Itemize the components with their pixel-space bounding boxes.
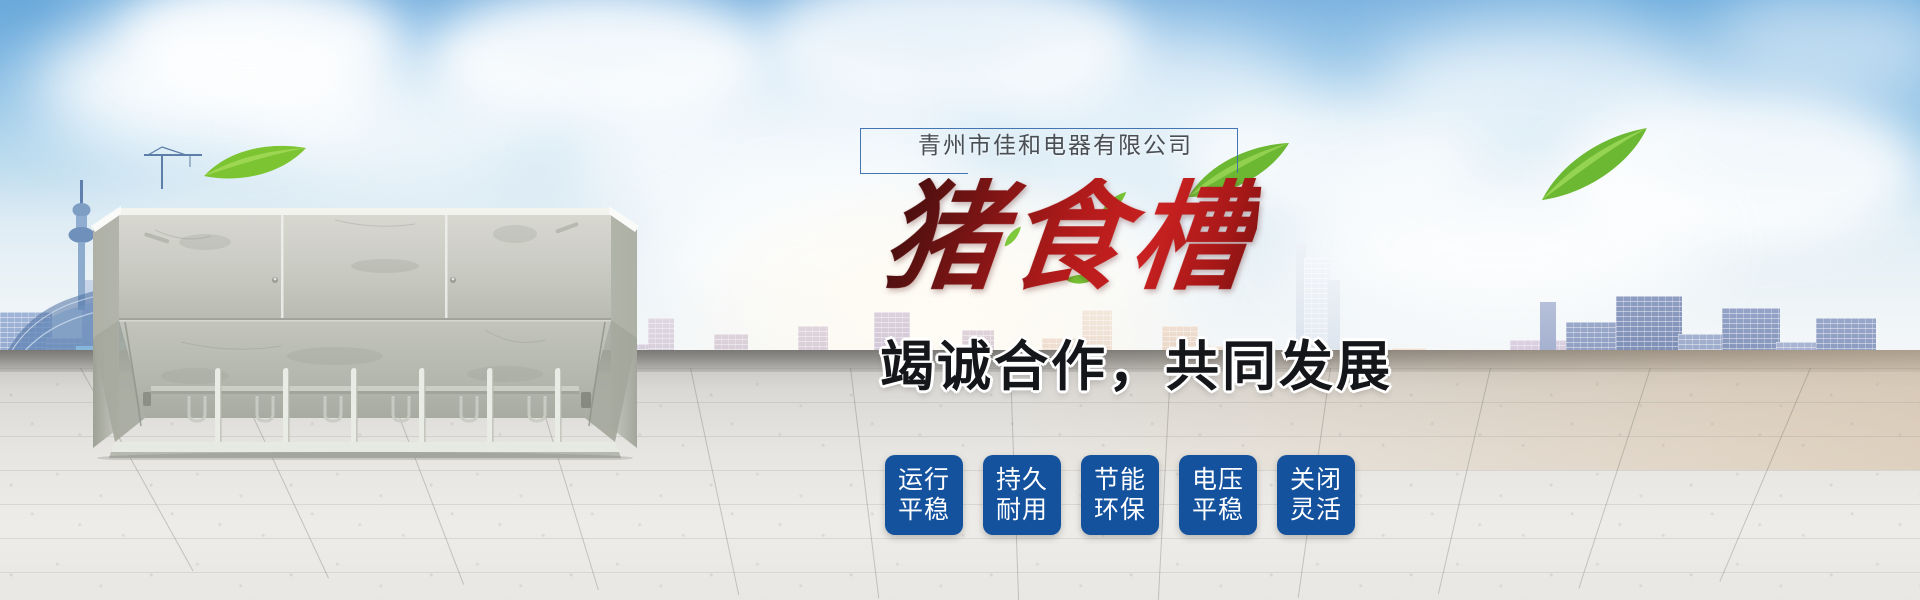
slogan-subtitle: 竭诚合作，共同发展 bbox=[880, 340, 1393, 394]
company-name: 青州市佳和电器有限公司 bbox=[918, 126, 1193, 160]
feature-badge[interactable]: 节能 环保 bbox=[1081, 455, 1159, 535]
badge-line-1: 运行 bbox=[898, 465, 950, 496]
feature-badge[interactable]: 持久 耐用 bbox=[983, 455, 1061, 535]
badge-line-2: 灵活 bbox=[1290, 495, 1342, 526]
product-image-pig-feeder-trough bbox=[85, 170, 645, 460]
badge-line-1: 持久 bbox=[996, 465, 1048, 496]
page-title: 猪食槽 bbox=[878, 178, 1262, 296]
badge-line-2: 平稳 bbox=[1192, 495, 1244, 526]
feature-badge[interactable]: 关闭 灵活 bbox=[1277, 455, 1355, 535]
badge-line-1: 电压 bbox=[1192, 465, 1244, 496]
promo-banner: 青州市佳和电器有限公司 猪食槽 竭诚合作，共同发展 运行 平稳 持久 耐用 节能… bbox=[0, 0, 1920, 600]
badge-line-2: 耐用 bbox=[996, 495, 1048, 526]
badge-line-1: 关闭 bbox=[1290, 465, 1342, 496]
badge-line-2: 平稳 bbox=[898, 495, 950, 526]
feature-badge[interactable]: 运行 平稳 bbox=[885, 455, 963, 535]
badge-line-1: 节能 bbox=[1094, 465, 1146, 496]
feature-badge[interactable]: 电压 平稳 bbox=[1179, 455, 1257, 535]
leaf-decoration bbox=[200, 142, 310, 186]
badge-line-2: 环保 bbox=[1094, 495, 1146, 526]
feature-badge-list: 运行 平稳 持久 耐用 节能 环保 电压 平稳 关闭 灵活 bbox=[885, 455, 1355, 535]
